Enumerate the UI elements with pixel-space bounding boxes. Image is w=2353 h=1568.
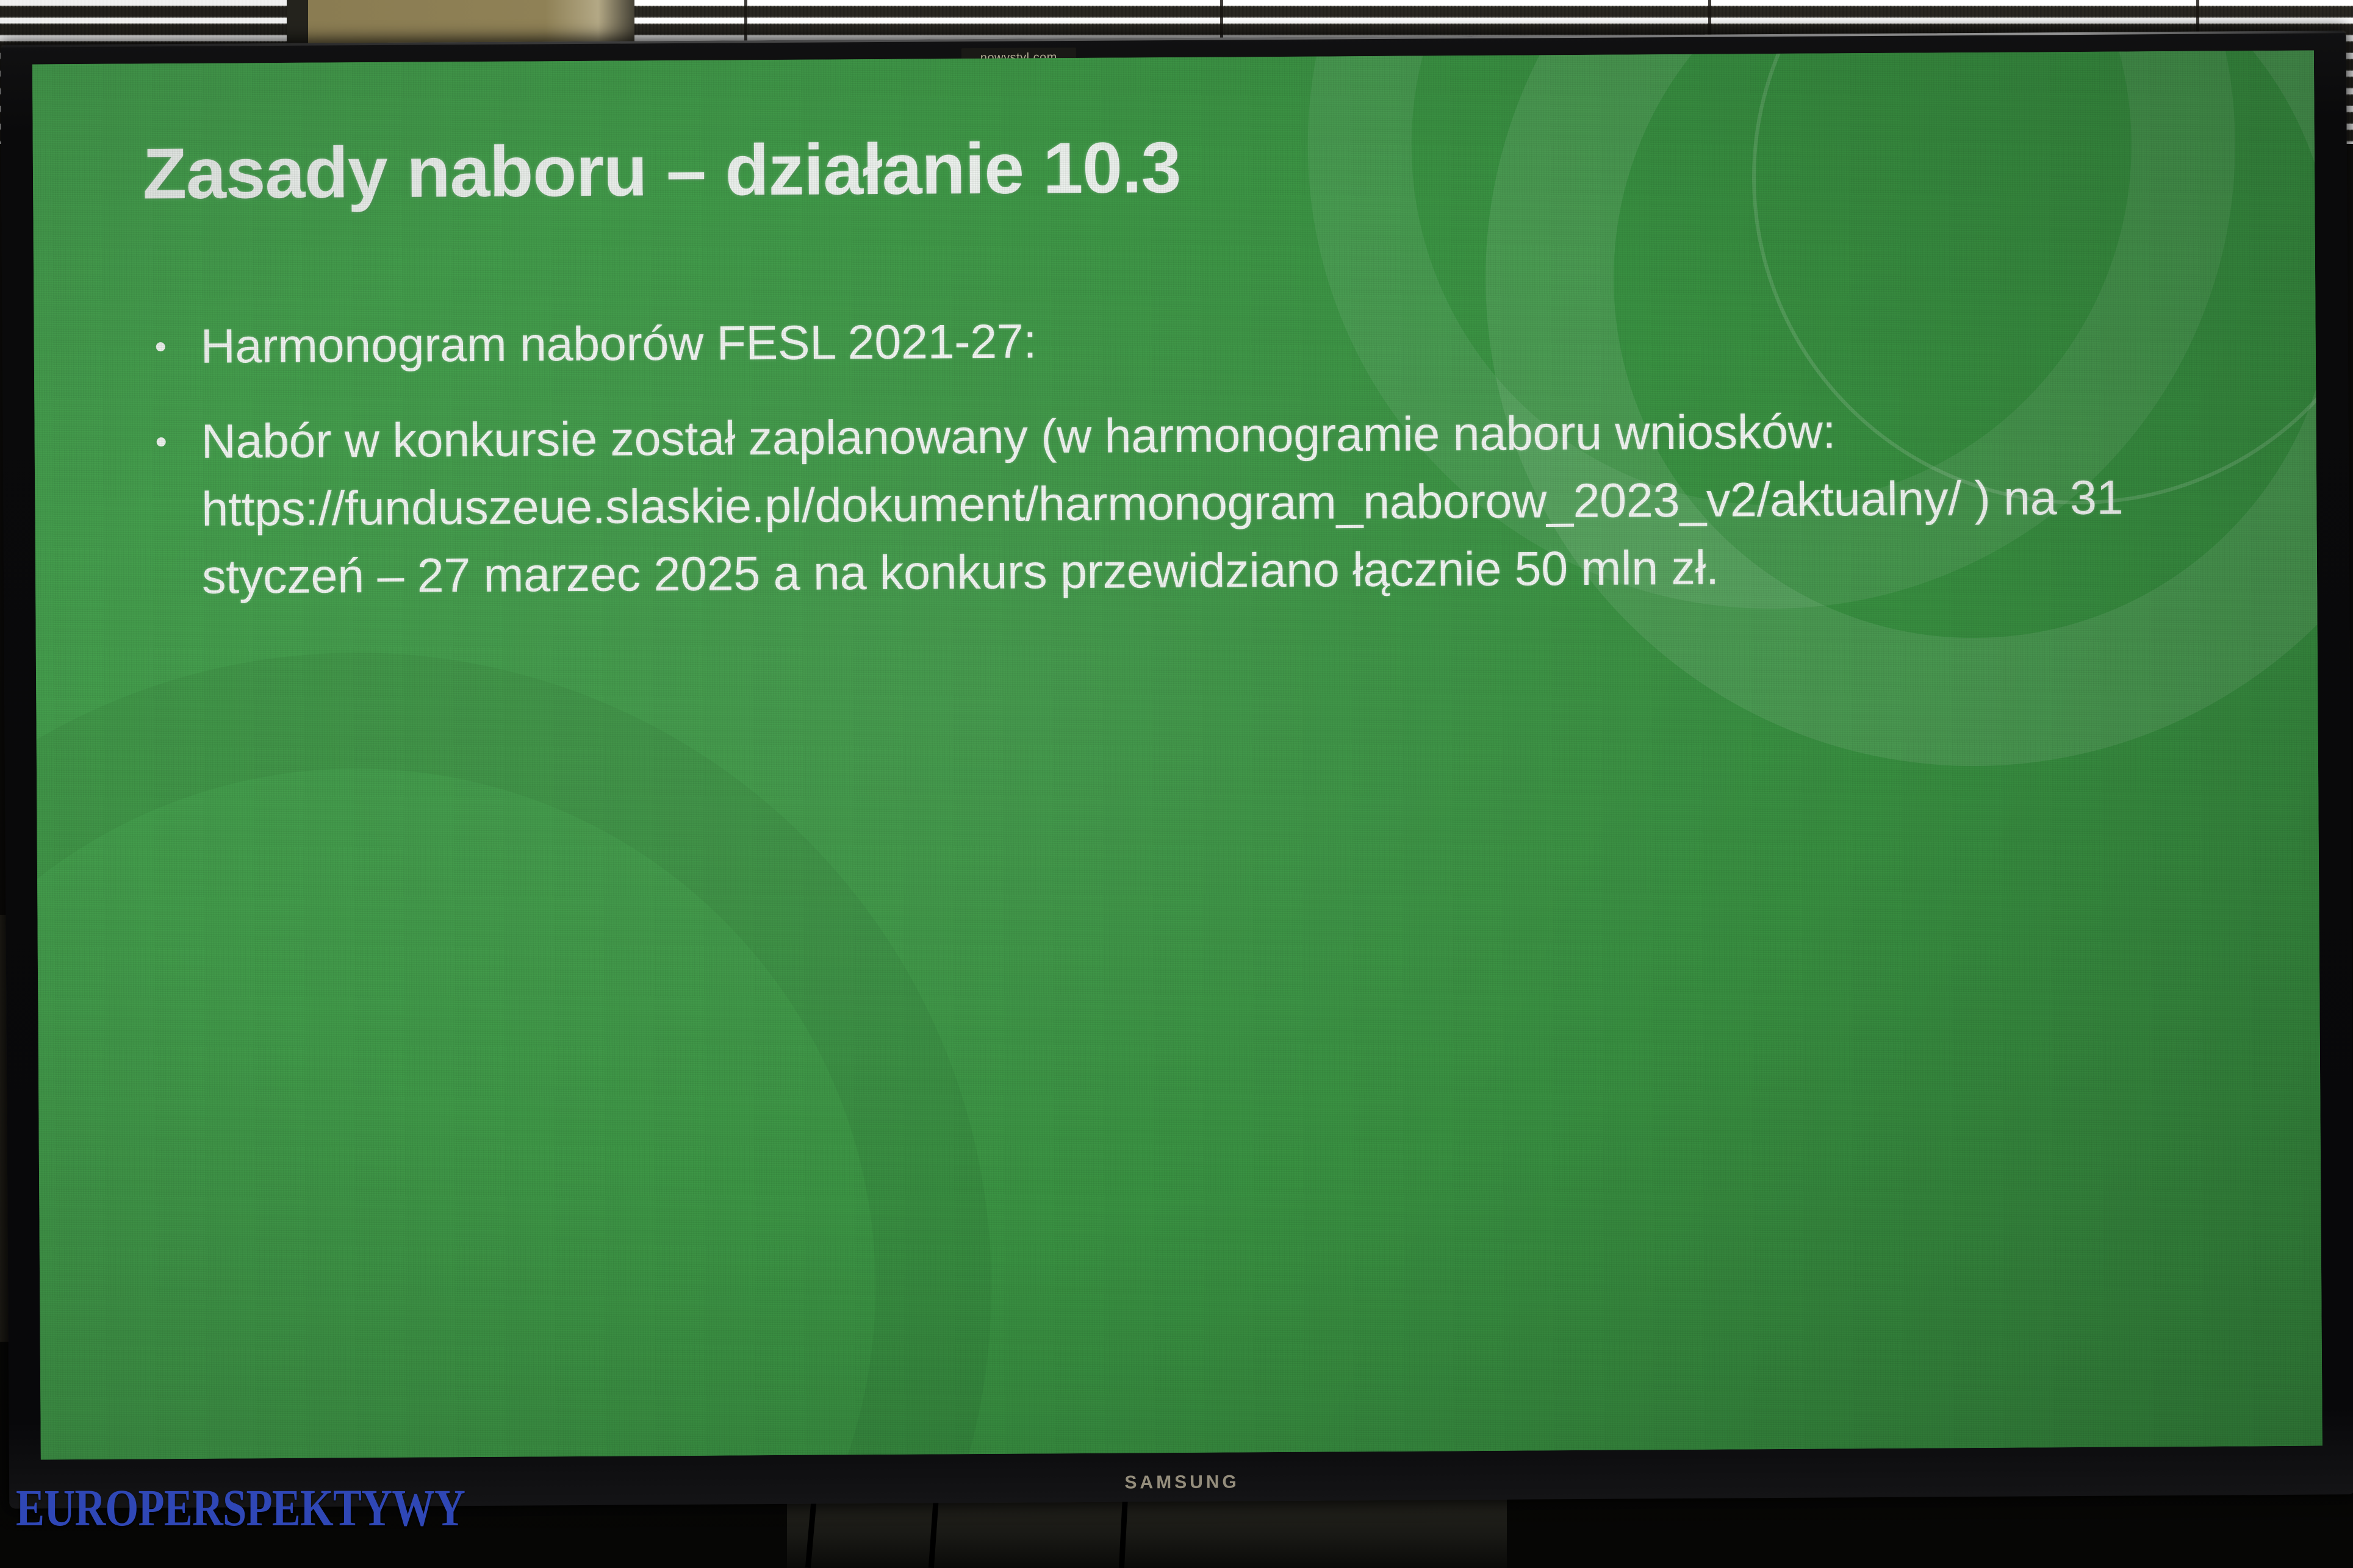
slide-bullet-item: Nabór w konkursie został zaplanowany (w … <box>144 396 2213 610</box>
decorative-arc-icon <box>32 649 996 1460</box>
bullet-text: Harmonogram naborów FESL 2021-27: <box>200 313 1036 373</box>
bullet-text: Nabór w konkursie został zaplanowany (w … <box>201 404 2123 604</box>
slide-bullet-list: Harmonogram naborów FESL 2021-27: Nabór … <box>143 301 2213 611</box>
slide-title: Zasady naboru – działanie 10.3 <box>143 124 2211 213</box>
watermark: EUROPERSPEKTYWY <box>16 1477 465 1538</box>
television: nowystyl.com SAMSUNG Zasady naboru – dzi… <box>1 30 2353 1508</box>
presentation-slide: Zasady naboru – działanie 10.3 Harmonogr… <box>32 51 2322 1460</box>
tv-stand <box>787 1497 1507 1568</box>
bullet-dot-icon <box>157 438 166 447</box>
photo-scene: nowystyl.com SAMSUNG Zasady naboru – dzi… <box>0 0 2353 1568</box>
slide-content: Zasady naboru – działanie 10.3 Harmonogr… <box>143 124 2214 639</box>
slide-bullet-item: Harmonogram naborów FESL 2021-27: <box>143 301 2212 381</box>
tv-screen: Zasady naboru – działanie 10.3 Harmonogr… <box>32 51 2322 1460</box>
bullet-dot-icon <box>156 342 165 351</box>
